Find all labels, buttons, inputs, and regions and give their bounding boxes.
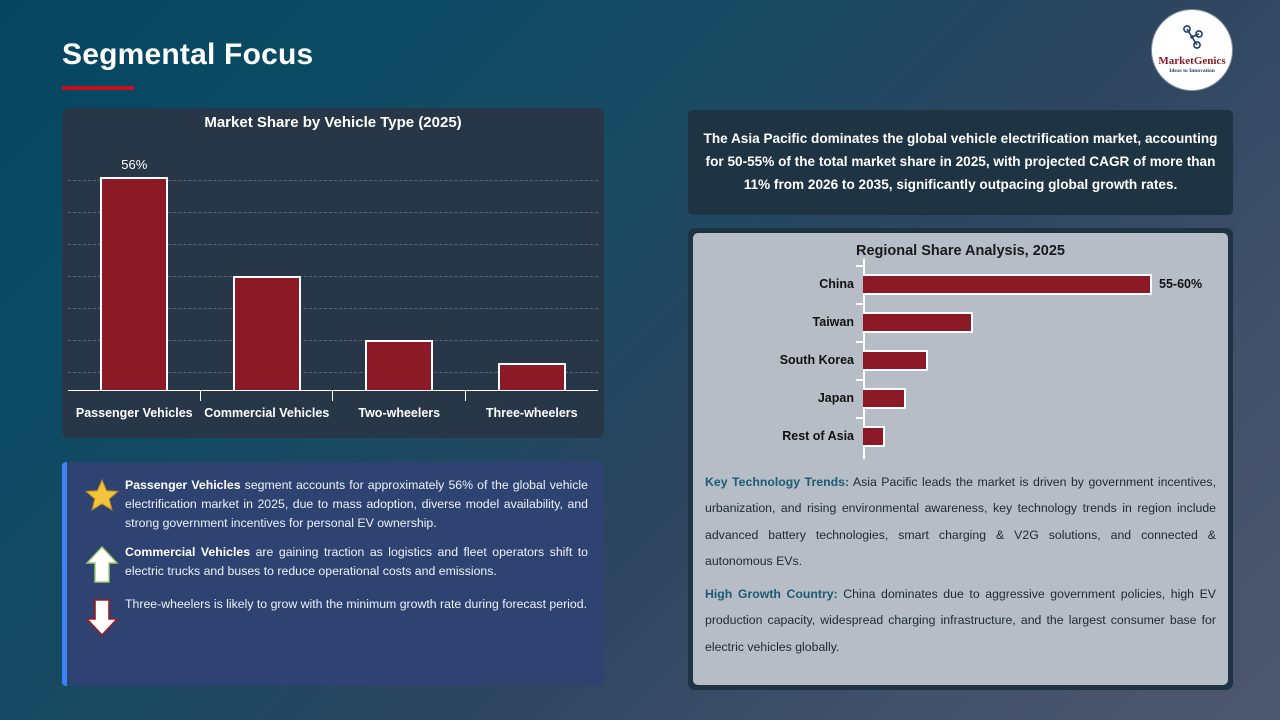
axis-tick	[856, 417, 863, 419]
vehicle-chart-title: Market Share by Vehicle Type (2025)	[62, 108, 604, 131]
note-label: High Growth Country:	[705, 587, 838, 601]
category-label-south-korea: South Korea	[707, 353, 863, 367]
bar-passenger-vehicles[interactable]: 56%	[100, 177, 168, 390]
insight-item-passenger-vehicles: Passenger Vehicles segment accounts for …	[79, 476, 592, 533]
bar-slot	[466, 144, 599, 390]
bar-south-korea[interactable]	[863, 350, 928, 371]
insight-text: Three-wheelers is likely to grow with th…	[125, 595, 591, 614]
axis-tick	[856, 265, 863, 267]
arrow-up-icon	[79, 543, 125, 585]
axis-tick	[201, 391, 334, 401]
asia-pacific-callout: The Asia Pacific dominates the global ve…	[688, 110, 1233, 215]
regional-chart-title: Regional Share Analysis, 2025	[705, 243, 1216, 259]
bar-two-wheelers[interactable]	[365, 340, 433, 390]
insight-text: Passenger Vehicles segment accounts for …	[125, 476, 592, 533]
category-label-china: China	[707, 277, 863, 291]
brand-logo: MarketGenics Ideas to Innovation	[1152, 10, 1232, 90]
category-label-rest-of-asia: Rest of Asia	[707, 429, 863, 443]
axis-tick	[856, 379, 863, 381]
insight-lead: Commercial Vehicles	[125, 545, 250, 559]
regional-notes: Key Technology Trends: Asia Pacific lead…	[705, 469, 1216, 660]
category-label-japan: Japan	[707, 391, 863, 405]
regional-bar-row-taiwan: Taiwan	[707, 303, 1216, 341]
bar-value-label-china: 55-60%	[1159, 277, 1202, 291]
insight-item-commercial-vehicles: Commercial Vehicles are gaining traction…	[79, 543, 592, 585]
insight-lead: Passenger Vehicles	[125, 478, 241, 492]
regional-bar-row-rest-of-asia: Rest of Asia	[707, 417, 1216, 455]
bar-rest-of-asia[interactable]	[863, 426, 885, 447]
bar-commercial-vehicles[interactable]	[233, 276, 301, 390]
category-label-commercial-vehicles: Commercial Vehicles	[201, 406, 334, 420]
bar-china[interactable]	[863, 274, 1152, 295]
category-label-two-wheelers: Two-wheelers	[333, 406, 466, 420]
molecule-node-icon	[1178, 24, 1206, 55]
axis-tick	[333, 391, 466, 401]
bar-taiwan[interactable]	[863, 312, 973, 333]
axis-tick	[856, 303, 863, 305]
bar-three-wheelers[interactable]	[498, 363, 566, 390]
note-high-growth-country: High Growth Country: China dominates due…	[705, 581, 1216, 660]
vehicle-chart-category-labels: Passenger Vehicles Commercial Vehicles T…	[68, 406, 598, 420]
insight-body: Three-wheelers is likely to grow with th…	[125, 597, 587, 611]
vehicle-bars-group: 56%	[68, 144, 598, 390]
bar-slot	[201, 144, 334, 390]
note-key-technology-trends: Key Technology Trends: Asia Pacific lead…	[705, 469, 1216, 575]
category-label-three-wheelers: Three-wheelers	[466, 406, 599, 420]
bar-japan[interactable]	[863, 388, 906, 409]
axis-tick	[68, 391, 201, 401]
bar-track: 55-60%	[863, 265, 1216, 303]
bar-track	[863, 379, 1216, 417]
logo-tagline: Ideas to Innovation	[1169, 68, 1215, 75]
regional-bar-row-china: China 55-60%	[707, 265, 1216, 303]
regional-chart-plot-area: China 55-60% Taiwan South Korea Ja	[707, 265, 1216, 455]
insight-text: Commercial Vehicles are gaining traction…	[125, 543, 592, 581]
star-icon	[79, 476, 125, 512]
title-underline	[62, 86, 134, 90]
vehicle-type-chart-panel: Market Share by Vehicle Type (2025) 56%	[62, 108, 604, 438]
page-title: Segmental Focus	[62, 38, 313, 72]
arrow-down-icon	[79, 595, 125, 637]
category-label-taiwan: Taiwan	[707, 315, 863, 329]
category-label-passenger-vehicles: Passenger Vehicles	[68, 406, 201, 420]
bar-slot: 56%	[68, 144, 201, 390]
axis-tick	[466, 391, 599, 401]
bar-track	[863, 341, 1216, 379]
insight-item-three-wheelers: Three-wheelers is likely to grow with th…	[79, 595, 592, 637]
regional-analysis-panel: Regional Share Analysis, 2025 China 55-6…	[688, 228, 1233, 690]
regional-analysis-inner: Regional Share Analysis, 2025 China 55-6…	[693, 233, 1228, 685]
callout-text: The Asia Pacific dominates the global ve…	[702, 128, 1219, 196]
vehicle-chart-plot-area: 56%	[68, 144, 598, 390]
vehicle-chart-axis-ticks	[68, 391, 598, 401]
regional-bar-row-south-korea: South Korea	[707, 341, 1216, 379]
bar-value-label: 56%	[121, 157, 147, 172]
axis-tick	[856, 341, 863, 343]
bar-slot	[333, 144, 466, 390]
bar-track	[863, 417, 1216, 455]
bar-track	[863, 303, 1216, 341]
logo-brand-name: MarketGenics	[1158, 56, 1225, 67]
regional-bar-row-japan: Japan	[707, 379, 1216, 417]
segment-insights-panel: Passenger Vehicles segment accounts for …	[62, 462, 604, 686]
note-label: Key Technology Trends:	[705, 475, 849, 489]
